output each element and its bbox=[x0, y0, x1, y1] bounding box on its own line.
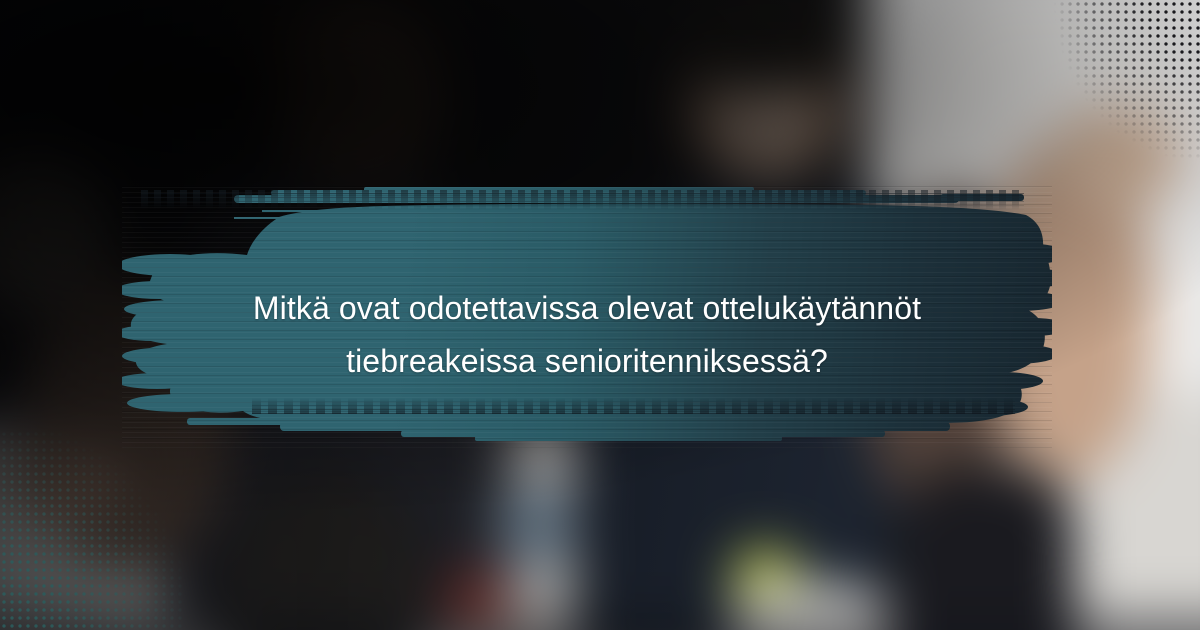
headline-text: Mitkä ovat odotettavissa olevat ottelukä… bbox=[122, 282, 1052, 388]
halftone-dots-top-right-icon bbox=[1050, 0, 1200, 165]
halftone-dots-bottom-left-icon bbox=[0, 430, 185, 630]
brush-stroke-banner: Mitkä ovat odotettavissa olevat ottelukä… bbox=[122, 186, 1052, 448]
social-card: Mitkä ovat odotettavissa olevat ottelukä… bbox=[0, 0, 1200, 630]
